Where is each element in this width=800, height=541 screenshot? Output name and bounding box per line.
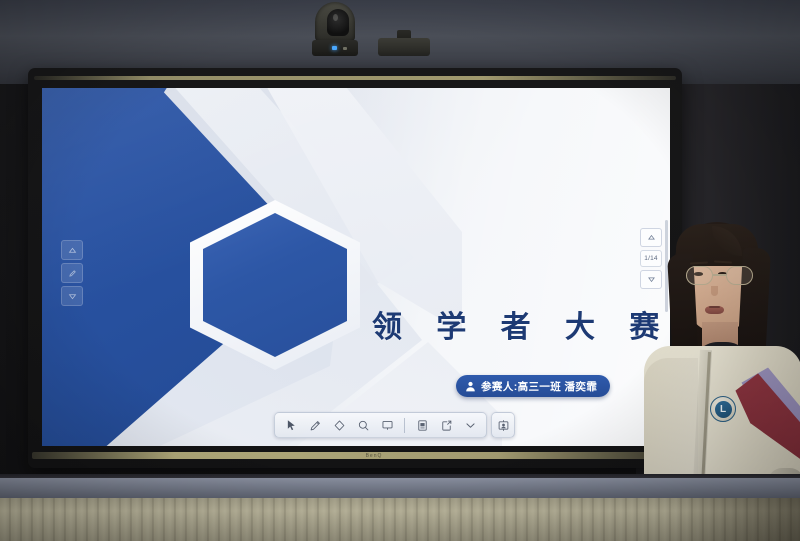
- select-tool-button[interactable]: [280, 415, 302, 435]
- ptz-camera-lens: [327, 9, 349, 36]
- share-export-icon: [440, 419, 453, 432]
- pen-icon: [309, 419, 322, 432]
- glasses-bridge: [713, 274, 726, 276]
- eraser-icon: [333, 419, 346, 432]
- chevron-down-icon: [464, 419, 477, 432]
- annotate-button[interactable]: [61, 263, 83, 283]
- magnifier-icon: [357, 419, 370, 432]
- presenter-nose: [711, 286, 718, 296]
- camera-bar: [378, 30, 430, 60]
- notes-button[interactable]: [411, 415, 433, 435]
- glasses-lens-left: [686, 266, 713, 285]
- eraser-tool-button[interactable]: [328, 415, 350, 435]
- camera-bar-body: [378, 38, 430, 56]
- slide-side-controls-left[interactable]: [61, 240, 83, 306]
- screen-tool-button[interactable]: [376, 415, 398, 435]
- presenter-badge: 参赛人:高三一班 潘奕霏: [456, 375, 610, 397]
- notes-icon: [416, 419, 429, 432]
- ptz-secondary-led: [343, 47, 347, 50]
- presenter-badge-text: 参赛人:高三一班 潘奕霏: [481, 379, 597, 394]
- triangle-down-icon: [68, 292, 77, 301]
- presenter-view-button[interactable]: [491, 412, 515, 438]
- ptz-camera-body: [315, 2, 355, 42]
- bezel-accent-top: [34, 76, 676, 80]
- cursor-arrow-icon: [285, 419, 298, 432]
- hexagon-decoration: [190, 200, 360, 370]
- presenter-screen-icon: [497, 419, 510, 432]
- bezel-brand-label: BenQ: [344, 452, 404, 459]
- toolbar-divider: [404, 418, 405, 433]
- triangle-up-icon: [68, 246, 77, 255]
- annotation-toolbar[interactable]: [274, 412, 515, 438]
- presentation-slide: 领 学 者 大 赛 参赛人:高三一班 潘奕霏: [42, 88, 670, 446]
- panel-screen[interactable]: 领 学 者 大 赛 参赛人:高三一班 潘奕霏: [42, 88, 670, 446]
- slide-title: 领 学 者 大 赛: [372, 302, 670, 346]
- ptz-status-led: [332, 46, 337, 50]
- share-button[interactable]: [435, 415, 457, 435]
- zoom-tool-button[interactable]: [352, 415, 374, 435]
- presenter-glasses: [684, 266, 756, 286]
- person-icon: [465, 381, 476, 392]
- wall-ledge: [0, 478, 800, 498]
- school-logo-badge: L: [710, 396, 736, 422]
- toolbar-main-group[interactable]: [274, 412, 487, 438]
- pen-tool-button[interactable]: [304, 415, 326, 435]
- ptz-camera: [312, 2, 358, 58]
- scroll-up-button[interactable]: [61, 240, 83, 260]
- more-button[interactable]: [459, 415, 481, 435]
- slatted-wall-shadow: [670, 498, 800, 541]
- pen-icon: [68, 269, 77, 278]
- ptz-lens-glint: [333, 14, 338, 21]
- monitor-icon: [381, 419, 394, 432]
- school-logo-letter: L: [715, 401, 732, 418]
- glasses-lens-right: [726, 266, 753, 285]
- presenter-lip-line: [709, 306, 720, 308]
- classroom-scene: 领 学 者 大 赛 参赛人:高三一班 潘奕霏: [0, 0, 800, 541]
- scroll-down-button[interactable]: [61, 286, 83, 306]
